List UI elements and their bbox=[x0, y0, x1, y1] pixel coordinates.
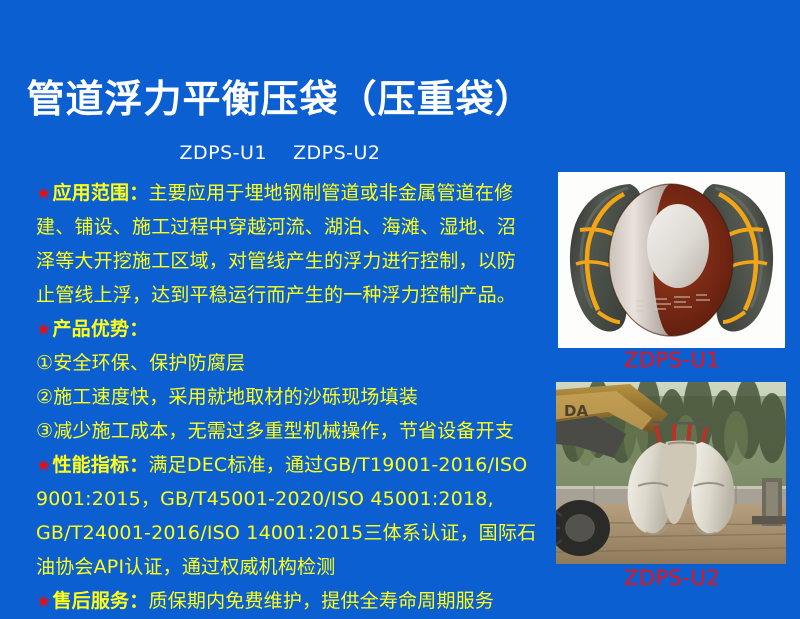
heading-performance-indicators: 性能指标： bbox=[52, 454, 148, 476]
text-after-sales-service: 质保期内免费维护，提供全寿命周期服务 bbox=[148, 590, 494, 612]
star-bullet-icon: ★ bbox=[36, 592, 51, 612]
text-performance-1: 满足DEC标准，通过GB/T19001-2016/ISO bbox=[148, 454, 527, 476]
caption-zdps-u2: ZDPS-U2 bbox=[552, 566, 792, 590]
loader-lifting-illustration: DA bbox=[556, 382, 786, 564]
loader-lifting-ballast-bag-photo: DA bbox=[556, 382, 786, 564]
line-product-advantages-heading: ★产品优势： bbox=[36, 312, 536, 346]
star-bullet-icon: ★ bbox=[36, 184, 51, 204]
pipe-bore bbox=[647, 204, 709, 288]
model-code-u2: ZDPS-U2 bbox=[293, 142, 381, 164]
caption-zdps-u1: ZDPS-U1 bbox=[552, 348, 792, 372]
heading-product-advantages: 产品优势： bbox=[52, 318, 148, 340]
body-text-column: ★应用范围：主要应用于埋地钢制管道或非金属管道在修 建、铺设、施工过程中穿越河流… bbox=[36, 176, 536, 618]
heading-application-scope: 应用范围： bbox=[52, 182, 148, 204]
line-advantage-3: ③减少施工成本，无需过多重型机械操作，节省设备开支 bbox=[36, 414, 536, 448]
star-bullet-icon: ★ bbox=[36, 320, 51, 340]
line-application-scope-4: 止管线上浮，达到平稳运行而产生的一种浮力控制产品。 bbox=[36, 278, 536, 312]
slide-canvas: 管道浮力平衡压袋（压重袋） ZDPS-U1ZDPS-U2 ★应用范围：主要应用于… bbox=[0, 0, 800, 600]
line-after-sales-service: ★售后服务：质保期内免费维护，提供全寿命周期服务 bbox=[36, 584, 536, 618]
line-performance-indicators-1: ★性能指标：满足DEC标准，通过GB/T19001-2016/ISO bbox=[36, 448, 536, 482]
line-application-scope-2: 建、铺设、施工过程中穿越河流、湖泊、海滩、湿地、沼 bbox=[36, 210, 536, 244]
svg-text:DA: DA bbox=[564, 402, 588, 420]
line-performance-indicators-2: 9001:2015，GB/T45001-2020/ISO 45001:2018, bbox=[36, 482, 536, 516]
heading-after-sales-service: 售后服务： bbox=[52, 590, 148, 612]
line-advantage-1: ①安全环保、保护防腐层 bbox=[36, 346, 536, 380]
pipe-with-ballast-bags-photo bbox=[558, 172, 785, 348]
line-application-scope-1: ★应用范围：主要应用于埋地钢制管道或非金属管道在修 bbox=[36, 176, 536, 210]
model-subtitle: ZDPS-U1ZDPS-U2 bbox=[0, 142, 560, 164]
page-title: 管道浮力平衡压袋（压重袋） bbox=[0, 76, 560, 122]
text-application-scope-1: 主要应用于埋地钢制管道或非金属管道在修 bbox=[148, 182, 513, 204]
star-bullet-icon: ★ bbox=[36, 456, 51, 476]
line-performance-indicators-3: GB/T24001-2016/ISO 14001:2015三体系认证，国际石 bbox=[36, 516, 536, 550]
model-code-u1: ZDPS-U1 bbox=[179, 142, 267, 164]
pipe-ballast-illustration bbox=[558, 172, 785, 348]
line-application-scope-3: 泽等大开挖施工区域，对管线产生的浮力进行控制，以防 bbox=[36, 244, 536, 278]
line-advantage-2: ②施工速度快，采用就地取材的沙砾现场填装 bbox=[36, 380, 536, 414]
line-performance-indicators-4: 油协会API认证，通过权威机构检测 bbox=[36, 550, 536, 584]
